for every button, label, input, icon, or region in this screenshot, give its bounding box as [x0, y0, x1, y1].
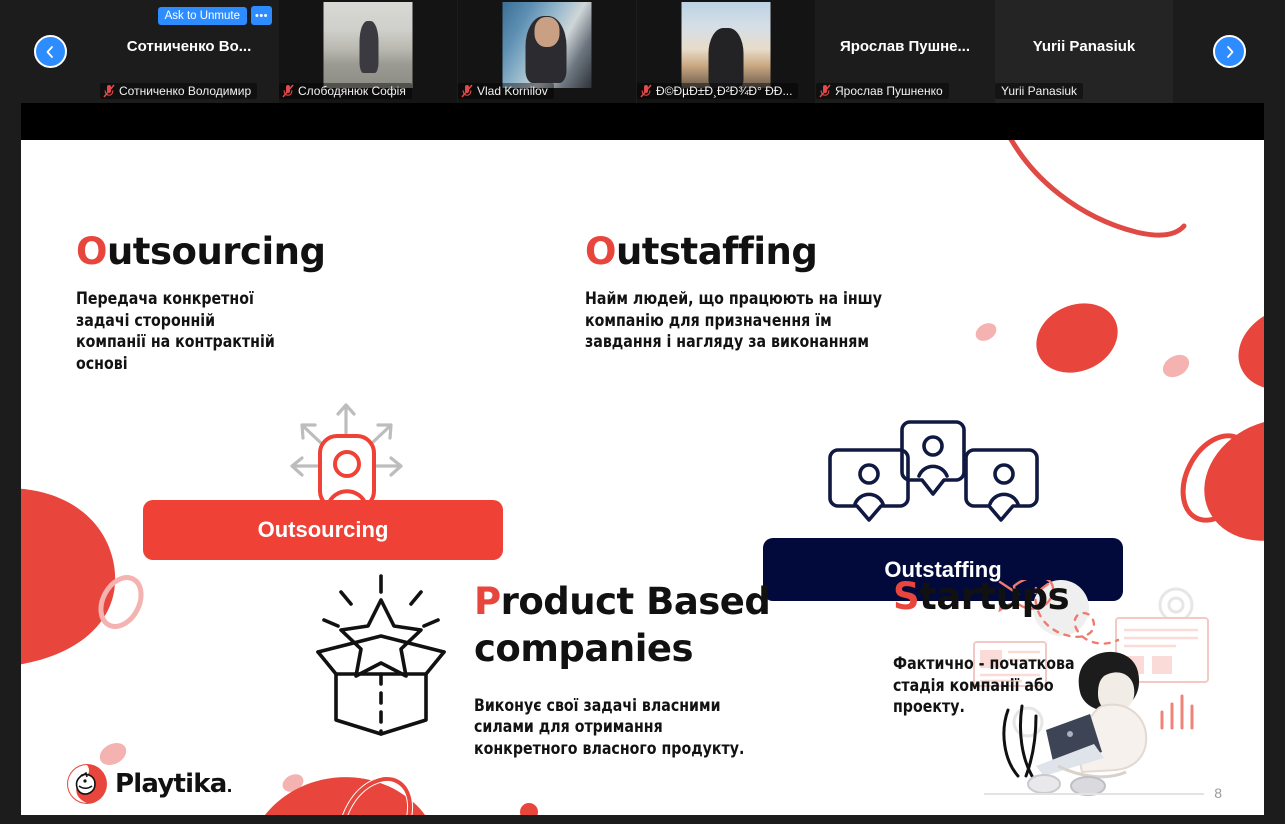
chevron-left-icon[interactable] [34, 35, 67, 68]
chevron-right-icon[interactable] [1213, 35, 1246, 68]
participant-tile[interactable]: Yurii Panasiuk Yurii Panasiuk [995, 0, 1173, 103]
shared-screen-region[interactable]: Outsourcing Передача конкретної задачі с… [21, 103, 1264, 815]
product-based-title-cap: P [474, 580, 501, 623]
participant-footer-name: Vlad Kornilov [477, 84, 548, 98]
microphone-muted-icon [282, 84, 294, 98]
startups-title-rest: tartups [919, 575, 1069, 618]
ask-to-unmute-button[interactable]: Ask to Unmute [158, 7, 247, 25]
participant-footer-name: Ярослав Пушненко [835, 84, 943, 98]
filmstrip-prev-button[interactable] [0, 0, 100, 103]
presentation-slide: Outsourcing Передача конкретної задачі с… [21, 140, 1264, 815]
startups-title-cap: S [893, 575, 919, 618]
block-outsourcing: Outsourcing Передача конкретної задачі с… [76, 233, 506, 375]
unmute-controls: Ask to Unmute ••• [158, 6, 272, 25]
participant-footer-name: Сотниченко Володимир [119, 84, 251, 98]
outstaffing-title: Outstaffing [585, 233, 1035, 272]
participant-footer: Слободянюк Софія [279, 83, 412, 99]
product-based-title-rest: roduct Based companies [474, 580, 770, 670]
participant-display-name: Ярослав Пушне... [816, 38, 994, 55]
outstaffing-body: Найм людей, що працюють на іншу компанію… [585, 288, 886, 353]
participant-video-thumbnail [324, 2, 413, 88]
outsourcing-title: Outsourcing [76, 233, 506, 272]
participant-tile[interactable]: Ð©ÐµÐ±Ð¸Ð²Ð¾Ð° ÐÐ... [637, 0, 815, 103]
participant-footer: Ярослав Пушненко [816, 83, 949, 99]
microphone-muted-icon [103, 84, 115, 98]
slide-page-number: 8 [1214, 785, 1222, 801]
participant-display-name: Yurii Panasiuk [995, 38, 1173, 55]
participant-footer: Vlad Kornilov [458, 83, 554, 99]
outsourcing-pill[interactable]: Outsourcing [143, 500, 503, 560]
block-product-based: Product Based companies Виконує свої зад… [474, 578, 804, 760]
participant-footer-name: Yurii Panasiuk [1001, 84, 1077, 98]
outstaffing-title-rest: utstaffing [616, 230, 817, 273]
microphone-muted-icon [640, 84, 652, 98]
participant-display-name: Сотниченко Во... [100, 38, 278, 55]
participant-video-thumbnail [503, 2, 592, 88]
playtika-panther-icon [66, 763, 108, 805]
playtika-logo: Playtika. [66, 763, 232, 805]
product-based-title: Product Based companies [474, 578, 804, 673]
participant-footer: Yurii Panasiuk [995, 83, 1083, 99]
startups-title: Startups [893, 578, 1223, 617]
participant-more-button[interactable]: ••• [251, 6, 272, 25]
three-person-badges-icon [826, 410, 1041, 530]
microphone-muted-icon [819, 84, 831, 98]
block-startups: Startups Фактично - початкова стадія ком… [893, 578, 1223, 718]
product-based-body: Виконує свої задачі власними силами для … [474, 695, 771, 760]
participant-footer-name: Ð©ÐµÐ±Ð¸Ð²Ð¾Ð° ÐÐ... [656, 84, 792, 98]
open-box-star-icon [296, 570, 466, 740]
participant-tile[interactable]: Vlad Kornilov [458, 0, 636, 103]
playtika-wordmark: Playtika. [115, 769, 232, 799]
outsourcing-title-rest: utsourcing [107, 230, 326, 273]
participant-video-thumbnail [682, 2, 771, 88]
participant-footer: Ð©ÐµÐ±Ð¸Ð²Ð¾Ð° ÐÐ... [637, 83, 798, 99]
participant-footer-name: Слободянюк Софія [298, 84, 406, 98]
outstaffing-title-cap: O [585, 230, 616, 273]
participant-tile[interactable]: Слободянюк Софія [279, 0, 457, 103]
startups-body: Фактично - початкова стадія компанії або… [893, 653, 1130, 718]
outsourcing-title-cap: O [76, 230, 107, 273]
microphone-muted-icon [461, 84, 473, 98]
outsourcing-body: Передача конкретної задачі сторонній ком… [76, 288, 287, 375]
slide-letterbox-top [21, 103, 1264, 140]
participant-tile[interactable]: Ask to Unmute ••• Сотниченко Во... Сотни… [100, 0, 278, 103]
participant-filmstrip: Ask to Unmute ••• Сотниченко Во... Сотни… [0, 0, 1285, 103]
participant-tile[interactable]: Ярослав Пушне... Ярослав Пушненко [816, 0, 994, 103]
filmstrip-next-button[interactable] [1174, 0, 1285, 103]
block-outstaffing: Outstaffing Найм людей, що працюють на і… [585, 233, 1035, 353]
participant-footer: Сотниченко Володимир [100, 83, 257, 99]
